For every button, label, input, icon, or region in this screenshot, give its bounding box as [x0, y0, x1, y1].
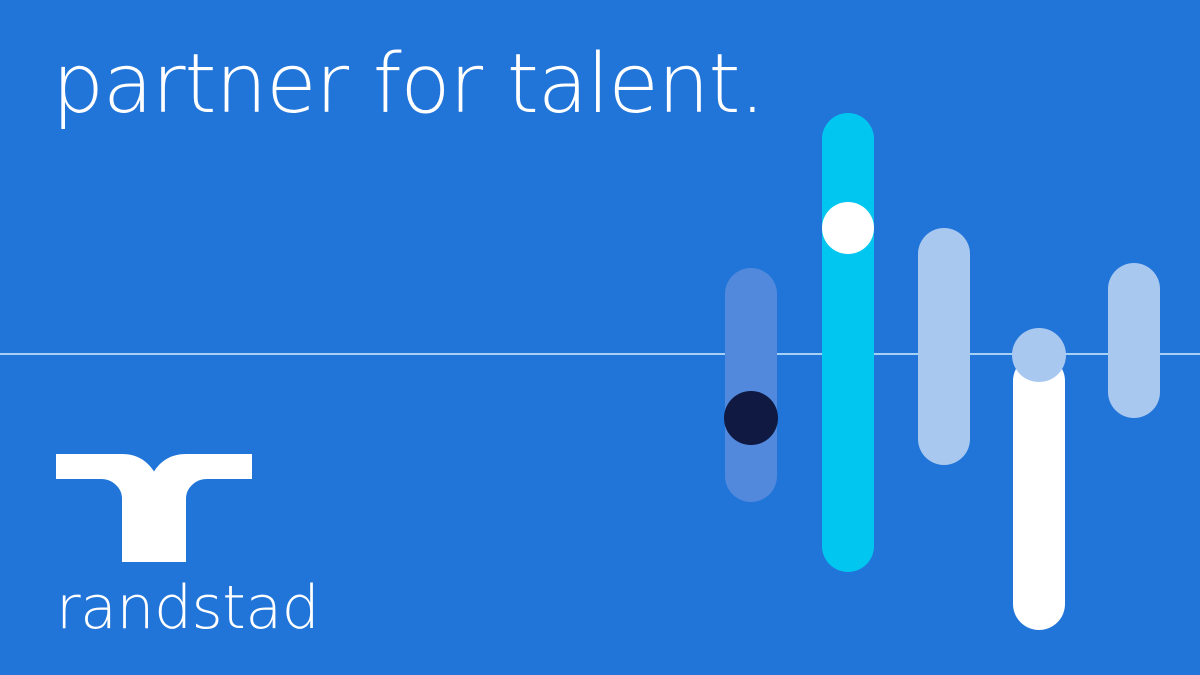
- brand-lockup: randstad: [56, 452, 386, 638]
- bar-5: [1108, 263, 1160, 418]
- bar-3: [918, 228, 970, 465]
- dot-light-blue: [1012, 328, 1066, 382]
- bar-1: [725, 268, 777, 502]
- poster-canvas: partner for talent. randstad: [0, 0, 1200, 675]
- dot-white: [822, 202, 874, 254]
- bar-4: [1013, 355, 1065, 630]
- brand-wordmark: randstad: [56, 578, 386, 638]
- dot-navy: [724, 391, 778, 445]
- page-title: partner for talent.: [52, 44, 764, 126]
- baseline-rule: [0, 353, 1200, 355]
- bar-2: [822, 113, 874, 572]
- randstad-shift-logo-icon: [56, 452, 252, 564]
